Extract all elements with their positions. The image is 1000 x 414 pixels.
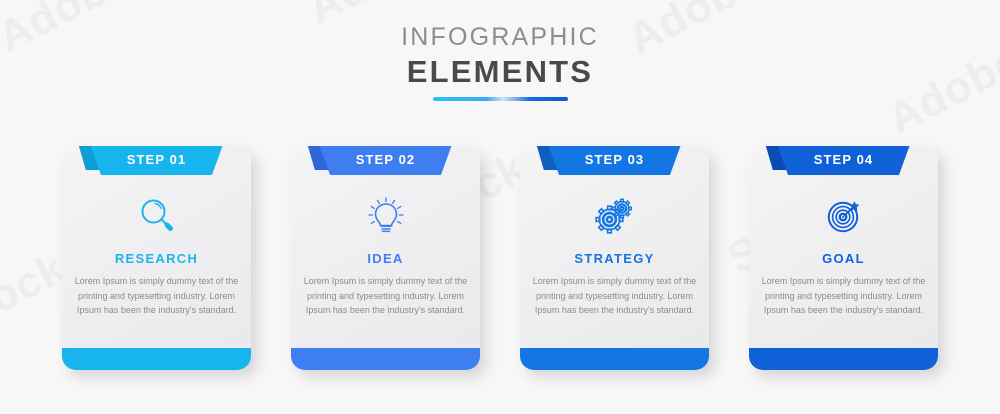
card-accent-bar-4 (749, 348, 938, 370)
card-title-1: RESEARCH (62, 251, 251, 266)
page-title: ELEMENTS (0, 53, 1000, 92)
magnifier-icon (62, 190, 251, 242)
card-title-4: GOAL (749, 251, 938, 266)
badge-body-2: STEP 02 (320, 146, 452, 175)
step-badge-1[interactable]: STEP 01 (91, 146, 223, 176)
card-title-2: IDEA (291, 251, 480, 266)
steps-row: STEP 01 RESEARCH Lorem Ipsum is simply d… (62, 138, 938, 370)
badge-label: STEP 02 (356, 153, 416, 168)
step-card-2[interactable]: STEP 02 (291, 146, 480, 370)
step-card-1[interactable]: STEP 01 RESEARCH Lorem Ipsum is simply d… (62, 146, 251, 370)
step-card-4[interactable]: STEP 04 GOAL Lorem Ipsum is simply dummy… (749, 146, 938, 370)
card-accent-bar-3 (520, 348, 709, 370)
target-icon (749, 190, 938, 242)
gears-icon (520, 190, 709, 242)
step-badge-2[interactable]: STEP 02 (320, 146, 452, 176)
badge-label: STEP 04 (814, 153, 874, 168)
card-accent-bar-1 (62, 348, 251, 370)
card-body-4: Lorem Ipsum is simply dummy text of the … (759, 274, 928, 318)
card-title-3: STRATEGY (520, 251, 709, 266)
badge-body-1: STEP 01 (91, 146, 223, 175)
badge-label: STEP 03 (585, 153, 645, 168)
card-body-2: Lorem Ipsum is simply dummy text of the … (301, 274, 470, 318)
badge-body-3: STEP 03 (549, 146, 681, 175)
lightbulb-icon (291, 190, 480, 242)
card-accent-bar-2 (291, 348, 480, 370)
step-badge-3[interactable]: STEP 03 (549, 146, 681, 176)
badge-label: STEP 01 (127, 153, 187, 168)
step-card-3[interactable]: STEP 03 (520, 146, 709, 370)
badge-body-4: STEP 04 (778, 146, 910, 175)
card-body-1: Lorem Ipsum is simply dummy text of the … (72, 274, 241, 318)
page-header: INFOGRAPHIC ELEMENTS (0, 24, 1000, 101)
step-badge-4[interactable]: STEP 04 (778, 146, 910, 176)
card-body-3: Lorem Ipsum is simply dummy text of the … (530, 274, 699, 318)
title-underline-accent (433, 97, 568, 101)
title-line-top: INFOGRAPHIC (0, 24, 1000, 52)
